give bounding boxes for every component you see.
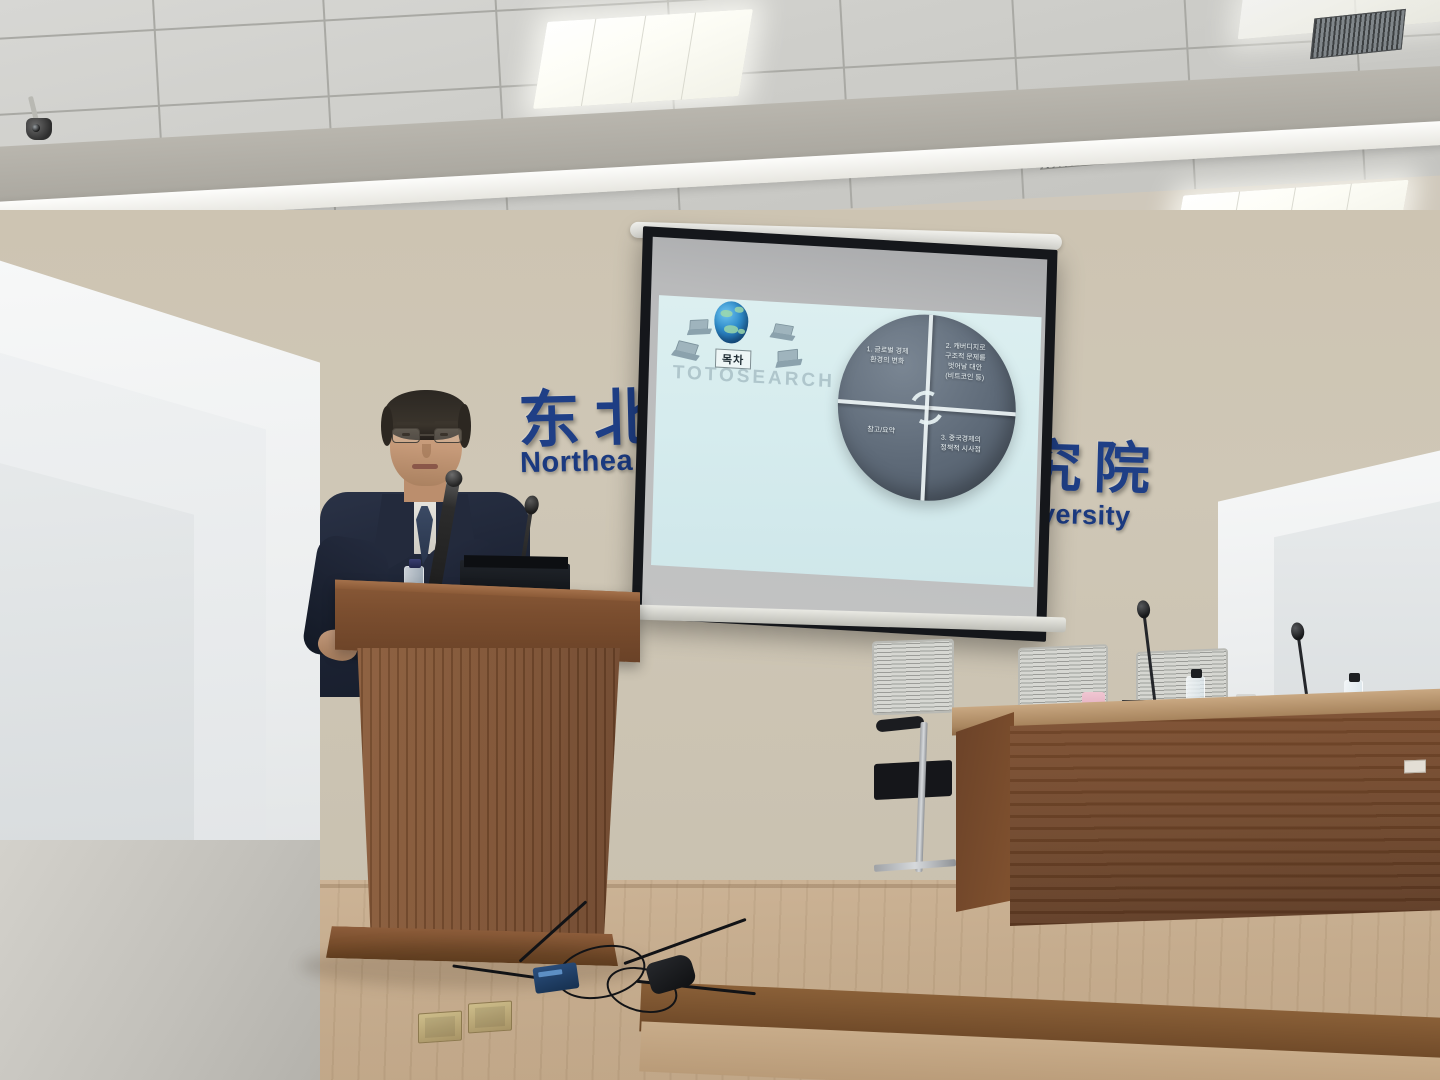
slide-watermark: TOTOSEARCH <box>672 362 835 393</box>
laptop-icon-2 <box>687 319 711 336</box>
wall-sign-english-right: versity <box>1040 499 1131 532</box>
wall-panel-group-left <box>0 215 340 875</box>
lens-right <box>434 428 462 443</box>
left-wall-base <box>0 840 320 1080</box>
quadrant-label-3: 3. 중국경제의 정책적 시사점 <box>930 433 991 456</box>
speaker-brow-right <box>434 421 458 424</box>
floor-outlet-box-2[interactable] <box>468 1000 512 1033</box>
laptop-icon-1 <box>672 339 701 362</box>
glasses-bridge <box>420 434 434 436</box>
quadrant-diagram <box>834 308 1020 507</box>
quadrant-center-ring-icon <box>906 387 949 429</box>
slide-content: 목차 TOTOSEARCH 1. 글로벌 경제 환경의 변화 2. 캐버디지로 … <box>651 295 1042 587</box>
laptop-lid <box>464 555 568 569</box>
chair-seat-1[interactable] <box>874 760 952 800</box>
speaker-nose <box>422 444 431 458</box>
panel-table-front <box>1010 710 1440 926</box>
lecture-hall-photo: 东北 Northea 究院 versity 목차 TOTOSEARCH <box>0 0 1440 1080</box>
speaker-eye-right <box>440 433 448 436</box>
security-camera-icon <box>26 118 52 140</box>
chair-backrest-1[interactable] <box>872 639 954 716</box>
globe-icon <box>714 300 749 344</box>
ceiling-light-panel-1 <box>533 9 753 109</box>
bottle-cap <box>409 559 421 568</box>
speaker-eye-left <box>402 433 410 436</box>
wall-panel-left-inner <box>0 453 194 875</box>
projection-screen[interactable]: 목차 TOTOSEARCH 1. 글로벌 경제 환경의 변화 2. 캐버디지로 … <box>631 226 1057 642</box>
quadrant-label-1: 1. 글로벌 경제 환경의 변화 <box>857 345 918 368</box>
laptop-icon-3 <box>770 323 795 342</box>
speaker-brow-left <box>396 422 420 425</box>
laptop-icon-4 <box>774 349 802 369</box>
floor-outlet-box-1[interactable] <box>418 1010 462 1043</box>
quadrant-label-2: 2. 캐버디지로 구조적 문제를 벗어날 대안 (비트코인 등) <box>935 341 996 384</box>
speaker-mouth <box>412 464 438 469</box>
panel-table-label-plate <box>1404 760 1426 774</box>
panel-table-side <box>956 712 1014 912</box>
podium-body <box>352 648 620 938</box>
adapter-label <box>538 969 562 977</box>
